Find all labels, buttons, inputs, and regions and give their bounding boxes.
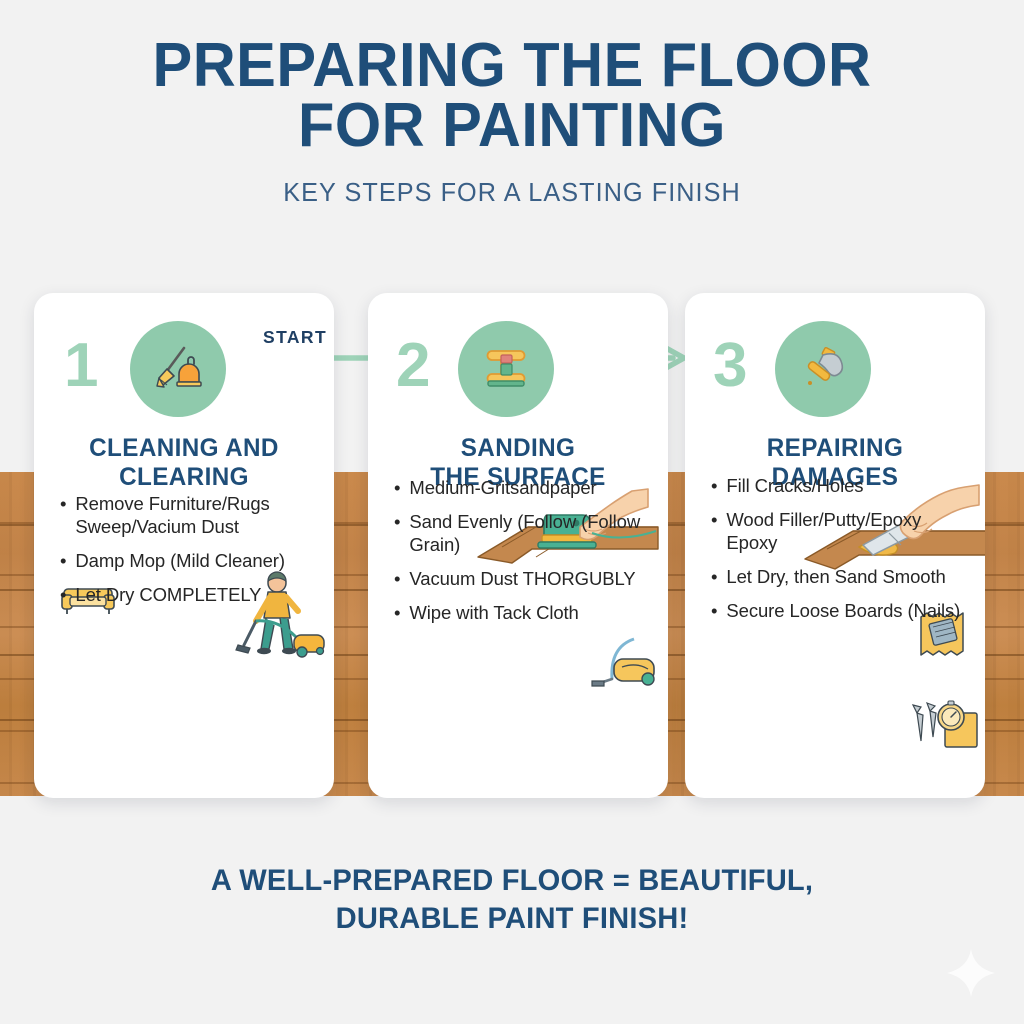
nails-and-tool-icon — [907, 699, 983, 761]
step-number: 1 — [64, 335, 98, 397]
bullet-dot: • — [394, 477, 400, 500]
sparkle-icon — [944, 946, 998, 1000]
footer-tagline-line-2: DURABLE PAINT FINISH! — [15, 900, 1008, 938]
list-item: •Wipe with Tack Cloth — [390, 602, 646, 625]
step-card-sanding-the-surface[interactable]: 2 SANDING THE SURFACE — [368, 293, 668, 798]
footer: A WELL-PREPARED FLOOR = BEAUTIFUL, DURAB… — [0, 862, 1024, 938]
list-item: •Secure Loose Boards (Nails) — [707, 600, 963, 623]
bullet-text: Damp Mop (Mild Cleaner) — [75, 550, 312, 573]
card-bullet-list: •Fill Cracks/Holes •Wood Filler/Putty/Ep… — [685, 475, 985, 634]
orbital-sander-icon — [458, 321, 554, 417]
list-item: •Remove Furniture/Rugs Sweep/Vacium Dust — [56, 493, 312, 539]
broom-and-dustpan-icon — [130, 321, 226, 417]
bullet-text: Let Dry, then Sand Smooth — [726, 566, 963, 589]
bullet-text: Sand Evenly (Follow (Follow Grain) — [409, 511, 646, 557]
card-title-line-1: CLEANING AND — [54, 434, 314, 463]
bullet-text: Wipe with Tack Cloth — [409, 602, 646, 625]
bullet-text: Fill Cracks/Holes — [726, 475, 963, 498]
list-item: •Vacuum Dust THORGUBLY — [390, 568, 646, 591]
bullet-text: Remove Furniture/Rugs Sweep/Vacium Dust — [75, 493, 312, 539]
list-item: •Let Dry, then Sand Smooth — [707, 566, 963, 589]
bullet-dot: • — [394, 602, 400, 625]
bullet-text: Let Dry COMPLETELY — [75, 584, 312, 607]
bullet-dot: • — [60, 584, 66, 607]
card-header: 3 — [685, 293, 985, 418]
page-title: PREPARING THE FLOOR FOR PAINTING — [20, 36, 1003, 156]
bullet-dot: • — [394, 511, 400, 557]
card-title-line-2: CLEARING — [54, 463, 314, 492]
bullet-text: Wood Filler/Putty/Epoxy Epoxy — [726, 509, 963, 555]
list-item: •Sand Evenly (Follow (Follow Grain) — [390, 511, 646, 557]
card-title-line-1: REPAIRING — [705, 434, 965, 463]
list-item: •Fill Cracks/Holes — [707, 475, 963, 498]
bullet-text: Medium-Gritsandpaper — [409, 477, 646, 500]
card-title: CLEANING AND CLEARING — [39, 434, 330, 493]
footer-tagline: A WELL-PREPARED FLOOR = BEAUTIFUL, DURAB… — [15, 862, 1008, 938]
bullet-dot: • — [711, 475, 717, 498]
bullet-text: Vacuum Dust THORGUBLY — [409, 568, 646, 591]
bullet-dot: • — [60, 493, 66, 539]
card-header: 2 — [368, 293, 668, 418]
start-label: START — [263, 327, 327, 348]
step-card-repairing-damages[interactable]: 3 REPAIRING DAMAGES — [685, 293, 985, 798]
bullet-dot: • — [711, 600, 717, 623]
header: PREPARING THE FLOOR FOR PAINTING KEY STE… — [0, 0, 1024, 208]
page-title-line-2: FOR PAINTING — [20, 96, 1003, 156]
list-item: •Wood Filler/Putty/Epoxy Epoxy — [707, 509, 963, 555]
list-item: •Let Dry COMPLETELY — [56, 584, 312, 607]
bullet-text: Secure Loose Boards (Nails) — [726, 600, 963, 623]
card-title-line-1: SANDING — [388, 434, 648, 463]
list-item: •Damp Mop (Mild Cleaner) — [56, 550, 312, 573]
list-item: •Medium-Gritsandpaper — [390, 477, 646, 500]
hammer-icon — [775, 321, 871, 417]
step-card-cleaning-and-clearing[interactable]: 1 CLEANING AND CLEARING — [34, 293, 334, 798]
step-number: 2 — [396, 335, 430, 397]
steps-container: 1 CLEANING AND CLEARING — [0, 293, 1024, 798]
page-subtitle: KEY STEPS FOR A LASTING FINISH — [15, 177, 1008, 208]
step-number: 3 — [713, 335, 747, 397]
bullet-dot: • — [60, 550, 66, 573]
card-header: 1 — [34, 293, 334, 418]
page-title-line-1: PREPARING THE FLOOR — [20, 36, 1003, 96]
bullet-dot: • — [711, 566, 717, 589]
footer-tagline-line-1: A WELL-PREPARED FLOOR = BEAUTIFUL, — [15, 862, 1008, 900]
bullet-dot: • — [711, 509, 717, 555]
card-bullet-list: •Remove Furniture/Rugs Sweep/Vacium Dust… — [34, 493, 334, 618]
bullet-dot: • — [394, 568, 400, 591]
card-bullet-list: •Medium-Gritsandpaper •Sand Evenly (Foll… — [368, 477, 668, 636]
